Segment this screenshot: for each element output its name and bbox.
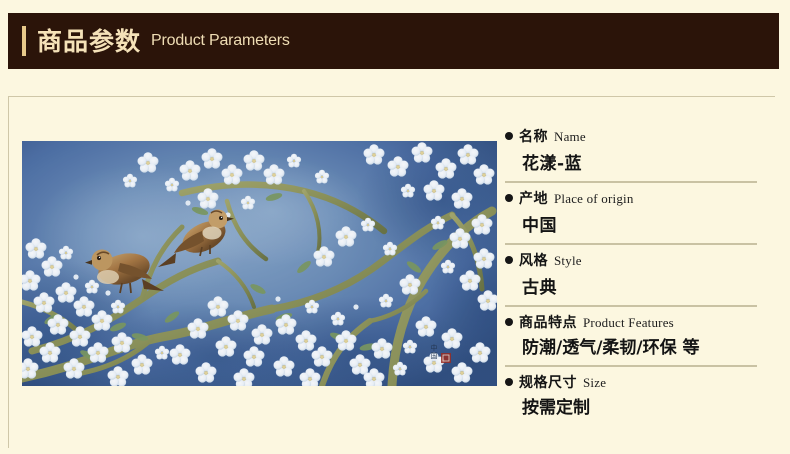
param-row-size: 规格尺寸 Size 按需定制 (505, 372, 775, 421)
param-label-name: 名称 Name (505, 126, 775, 146)
header-accent-bar-icon (22, 26, 26, 56)
param-row-name: 名称 Name 花漾-蓝 (505, 126, 775, 177)
param-label-cn: 产地 (519, 188, 548, 208)
param-divider (505, 181, 757, 183)
param-row-style: 风格 Style 古典 (505, 250, 775, 301)
bullet-dot-icon (505, 132, 513, 140)
section-header-banner: 商品参数 Product Parameters (8, 13, 779, 69)
param-label-style: 风格 Style (505, 250, 775, 270)
param-divider (505, 365, 757, 367)
param-label-en: Style (554, 253, 582, 269)
param-label-en: Size (583, 375, 606, 391)
page-title-chinese: 商品参数 (37, 29, 141, 54)
product-image[interactable]: 中国 (22, 141, 497, 386)
bullet-dot-icon (505, 256, 513, 264)
product-parameter-list: 名称 Name 花漾-蓝 产地 Place of origin 中国 风格 St… (505, 126, 775, 421)
param-label-en: Product Features (583, 315, 674, 331)
page-title-english: Product Parameters (151, 33, 290, 49)
param-row-features: 商品特点 Product Features 防潮/透气/柔韧/环保 等 (505, 312, 775, 361)
param-label-cn: 规格尺寸 (519, 372, 577, 392)
param-label-cn: 商品特点 (519, 312, 577, 332)
param-label-en: Name (554, 129, 586, 145)
param-label-cn: 风格 (519, 250, 548, 270)
param-value-name: 花漾-蓝 (522, 149, 775, 174)
param-divider (505, 243, 757, 245)
bullet-dot-icon (505, 318, 513, 326)
param-row-origin: 产地 Place of origin 中国 (505, 188, 775, 239)
param-label-en: Place of origin (554, 191, 634, 207)
param-value-origin: 中国 (522, 211, 775, 236)
param-label-size: 规格尺寸 Size (505, 372, 775, 392)
bullet-dot-icon (505, 194, 513, 202)
param-divider (505, 305, 757, 307)
param-value-features: 防潮/透气/柔韧/环保 等 (522, 333, 775, 358)
param-label-features: 商品特点 Product Features (505, 312, 775, 332)
product-image-artwork: 中国 (22, 141, 497, 386)
param-value-style: 古典 (522, 273, 775, 298)
param-label-cn: 名称 (519, 126, 548, 146)
bullet-dot-icon (505, 378, 513, 386)
param-label-origin: 产地 Place of origin (505, 188, 775, 208)
param-value-size: 按需定制 (522, 393, 775, 418)
